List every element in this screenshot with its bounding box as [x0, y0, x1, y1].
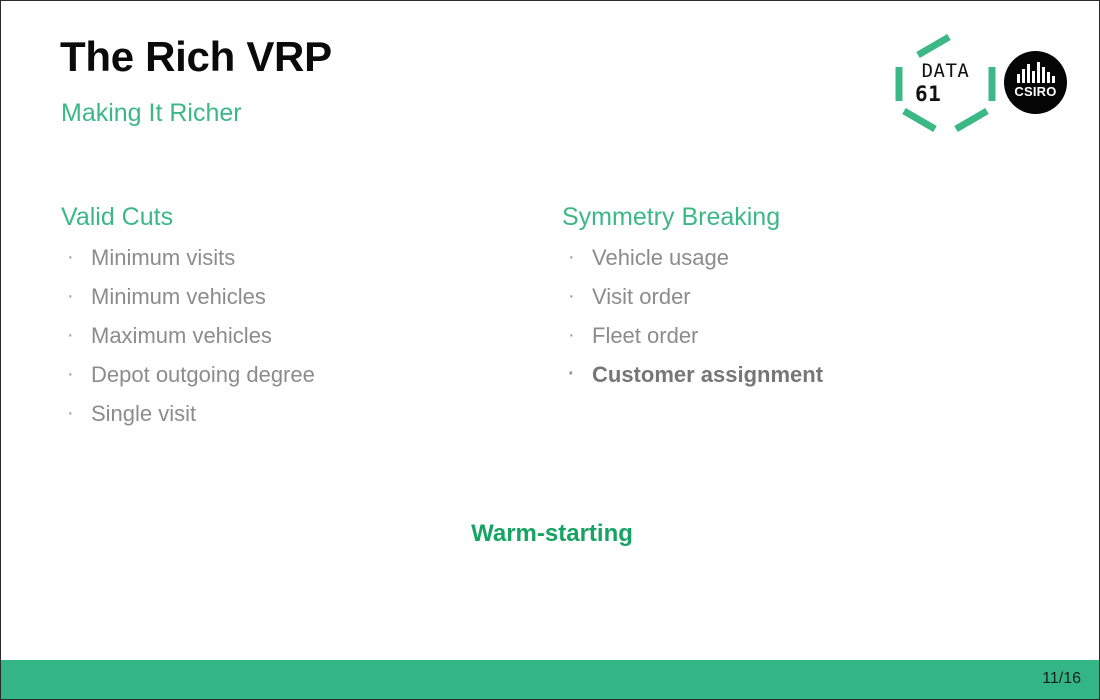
list-item-label: Fleet order: [592, 323, 698, 348]
list-item: · Depot outgoing degree: [61, 355, 531, 394]
callout-text: Warm-starting: [1, 520, 1100, 549]
list-item-label: Minimum vehicles: [91, 284, 266, 309]
callout-label: Warm-starting: [471, 520, 633, 547]
list-item-highlighted: · Customer assignment: [562, 355, 1042, 394]
logo-group: DATA 61 CSIRO: [894, 31, 1066, 135]
list-item: · Fleet order: [562, 316, 1042, 355]
list-item: · Minimum vehicles: [61, 277, 531, 316]
csiro-logo-icon: CSIRO: [1004, 51, 1067, 114]
column-symmetry-breaking: Symmetry Breaking · Vehicle usage · Visi…: [562, 202, 1042, 394]
list-item-label: Depot outgoing degree: [91, 362, 315, 387]
list-item-label: Visit order: [592, 284, 691, 309]
page-number: 11/16: [1042, 669, 1081, 688]
list-item: · Maximum vehicles: [61, 316, 531, 355]
column-heading: Valid Cuts: [61, 202, 531, 232]
bullet-dot-icon: ·: [568, 355, 575, 394]
data61-wordmark: DATA 61: [894, 31, 997, 135]
csiro-wordmark: CSIRO: [1004, 85, 1067, 98]
column-valid-cuts: Valid Cuts · Minimum visits · Minimum ve…: [61, 202, 531, 433]
list-item-label: Customer assignment: [592, 362, 823, 387]
bullet-dot-icon: ·: [67, 394, 74, 433]
list-item-label: Minimum visits: [91, 245, 235, 270]
data61-line1: DATA: [922, 62, 970, 81]
bullet-dot-icon: ·: [67, 316, 74, 355]
bullet-dot-icon: ·: [568, 277, 575, 316]
list-item-label: Single visit: [91, 401, 196, 426]
list-item: · Single visit: [61, 394, 531, 433]
csiro-bars-icon: [1004, 62, 1067, 83]
bullet-list: · Vehicle usage · Visit order · Fleet or…: [562, 238, 1042, 394]
bullet-dot-icon: ·: [67, 277, 74, 316]
list-item: · Minimum visits: [61, 238, 531, 277]
slide-title: The Rich VRP: [60, 34, 332, 80]
list-item-label: Vehicle usage: [592, 245, 729, 270]
slide-footer-bar: 11/16: [1, 660, 1100, 699]
bullet-dot-icon: ·: [568, 238, 575, 277]
list-item: · Vehicle usage: [562, 238, 1042, 277]
presentation-slide: The Rich VRP Making It Richer DATA 61: [0, 0, 1100, 700]
bullet-dot-icon: ·: [67, 355, 74, 394]
list-item: · Visit order: [562, 277, 1042, 316]
data61-line2: 61: [915, 84, 941, 105]
bullet-dot-icon: ·: [67, 238, 74, 277]
column-heading: Symmetry Breaking: [562, 202, 1042, 232]
list-item-label: Maximum vehicles: [91, 323, 272, 348]
bullet-dot-icon: ·: [568, 316, 575, 355]
bullet-list: · Minimum visits · Minimum vehicles · Ma…: [61, 238, 531, 433]
slide-subtitle: Making It Richer: [61, 98, 242, 128]
